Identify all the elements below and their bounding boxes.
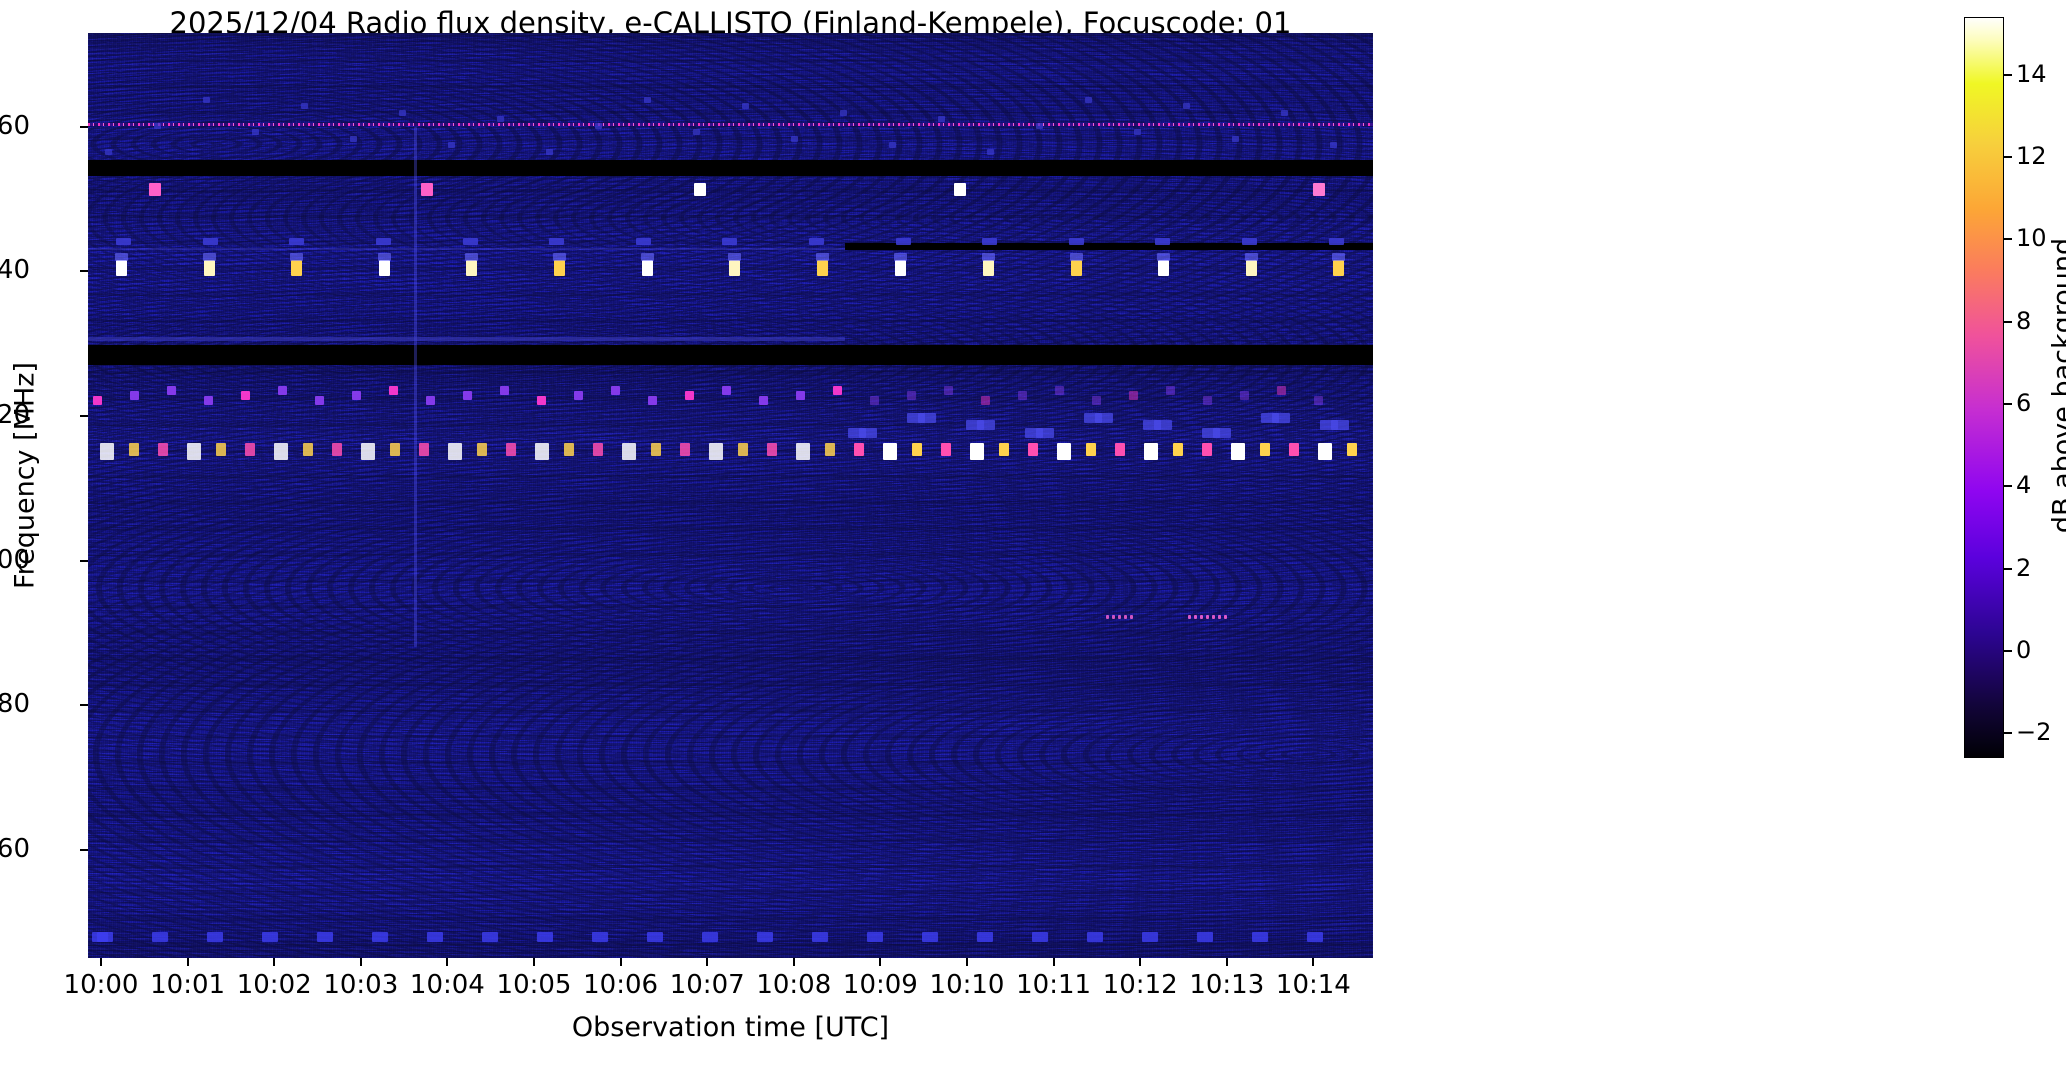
beacon-blob — [378, 253, 391, 261]
beacon-blob — [389, 386, 398, 395]
x-tick-mark — [879, 958, 881, 966]
beacon-blob — [1212, 615, 1215, 619]
beacon-blob — [332, 443, 342, 456]
beacon-blob — [303, 443, 313, 456]
beacon-blob — [896, 238, 911, 245]
colorbar-tick-label: 6 — [2016, 389, 2031, 417]
beacon-blob — [105, 149, 112, 155]
beacon-blob — [154, 123, 161, 129]
beacon-blob — [809, 238, 824, 245]
beacon-blob — [1115, 443, 1125, 456]
x-tick-mark — [966, 958, 968, 966]
beacon-blob — [1118, 615, 1121, 619]
figure-canvas: 2025/12/04 Radio flux density, e-CALLIST… — [0, 0, 2066, 1067]
y-tick-label: 140 — [0, 255, 30, 285]
colorbar-title: dB above background — [2048, 176, 2066, 596]
beacon-blob — [636, 238, 651, 245]
beacon-blob — [729, 260, 740, 276]
beacon-blob — [291, 260, 302, 276]
y-tick-label: 120 — [0, 400, 30, 430]
beacon-blob — [1188, 615, 1191, 619]
beacon-blob — [970, 443, 984, 460]
beacon-blob — [1032, 932, 1048, 942]
beacon-blob — [1333, 260, 1344, 276]
beacon-blob — [651, 443, 661, 456]
beacon-blob — [1213, 428, 1231, 438]
x-tick-mark — [360, 958, 362, 966]
y-tick-label: 160 — [0, 111, 30, 141]
beacon-blob — [889, 142, 896, 148]
beacon-blob — [1036, 123, 1043, 129]
beacon-blob — [1129, 391, 1138, 400]
colorbar-tick-mark — [2004, 321, 2012, 323]
beacon-blob — [278, 386, 287, 395]
beacon-blob — [315, 396, 324, 405]
y-tick-label: 60 — [0, 834, 30, 864]
beacon-blob — [912, 443, 922, 456]
beacon-blob — [1260, 443, 1270, 456]
beacon-blob — [1070, 253, 1083, 261]
beacon-blob — [647, 932, 663, 942]
beacon-blob — [376, 238, 391, 245]
colorbar-tick-mark — [2004, 403, 2012, 405]
beacon-blob — [728, 253, 741, 261]
beacon-blob — [1071, 260, 1082, 276]
beacon-blob — [1173, 443, 1183, 456]
beacon-blob — [622, 443, 636, 460]
beacon-blob — [1272, 413, 1290, 423]
beacon-blob — [941, 443, 951, 456]
beacon-blob — [448, 443, 462, 460]
suppressed-band-114mhz — [88, 345, 1373, 365]
x-tick-mark — [1053, 958, 1055, 966]
beacon-blob — [592, 932, 608, 942]
y-axis-title: Frequency [MHz] — [10, 236, 41, 716]
beacon-blob — [870, 396, 879, 405]
beacon-blob — [274, 443, 288, 460]
beacon-blob — [987, 149, 994, 155]
y-tick-mark — [80, 704, 88, 706]
beacon-blob — [290, 253, 303, 261]
beacon-blob — [1130, 615, 1133, 619]
beacon-blob — [130, 391, 139, 400]
beacon-blob — [702, 932, 718, 942]
beacon-blob — [1313, 183, 1325, 196]
beacon-blob — [1252, 932, 1268, 942]
beacon-blob — [611, 386, 620, 395]
beacon-blob — [1242, 238, 1257, 245]
colorbar-tick-mark — [2004, 485, 2012, 487]
beacon-blob — [1144, 443, 1158, 460]
beacon-blob — [129, 443, 139, 456]
beacon-blob — [1154, 420, 1172, 430]
beacon-blob — [817, 260, 828, 276]
beacon-blob — [463, 391, 472, 400]
beacon-blob — [1289, 443, 1299, 456]
beacon-blob — [938, 116, 945, 122]
y-tick-mark — [80, 415, 88, 417]
beacon-blob — [88, 337, 845, 341]
beacon-blob — [722, 386, 731, 395]
beacon-blob — [1245, 253, 1258, 261]
beacon-blob — [1095, 413, 1113, 423]
y-tick-label: 80 — [0, 689, 30, 719]
colorbar-tick-mark — [2004, 74, 2012, 76]
beacon-blob — [419, 443, 429, 456]
beacon-blob — [535, 443, 549, 460]
beacon-blob — [977, 932, 993, 942]
beacon-blob — [554, 260, 565, 276]
colorbar-tick-mark — [2004, 238, 2012, 240]
beacon-blob — [981, 396, 990, 405]
beacon-blob — [262, 932, 278, 942]
x-tick-mark — [620, 958, 622, 966]
beacon-blob — [816, 253, 829, 261]
beacon-blob — [252, 129, 259, 135]
beacon-blob — [1200, 615, 1203, 619]
beacon-blob — [1142, 932, 1158, 942]
beacon-blob — [1332, 253, 1345, 261]
beacon-blob — [983, 260, 994, 276]
x-tick-mark — [1312, 958, 1314, 966]
beacon-blob — [352, 391, 361, 400]
beacon-blob — [1232, 136, 1239, 142]
beacon-blob — [92, 932, 108, 942]
x-axis-title: Observation time [UTC] — [88, 1012, 1373, 1043]
beacon-blob — [203, 97, 210, 103]
beacon-blob — [482, 932, 498, 942]
colorbar-tick-label: 10 — [2016, 224, 2047, 252]
beacon-blob — [1231, 443, 1245, 460]
colorbar-tick-label: 4 — [2016, 471, 2031, 499]
beacon-blob — [693, 129, 700, 135]
colorbar-tick-mark — [2004, 650, 2012, 652]
beacon-blob — [680, 443, 690, 456]
y-tick-mark — [80, 270, 88, 272]
beacon-blob — [1206, 615, 1209, 619]
beacon-blob — [867, 932, 883, 942]
beacon-blob — [289, 238, 304, 245]
beacon-blob — [116, 238, 131, 245]
beacon-blob — [564, 443, 574, 456]
beacon-blob — [1134, 129, 1141, 135]
beacon-blob — [922, 932, 938, 942]
beacon-blob — [595, 123, 602, 129]
beacon-blob — [685, 391, 694, 400]
beacon-blob — [977, 420, 995, 430]
beacon-blob — [149, 183, 161, 196]
beacon-blob — [574, 391, 583, 400]
colorbar-tick-mark — [2004, 156, 2012, 158]
beacon-blob — [859, 428, 877, 438]
beacon-blob — [1183, 103, 1190, 109]
beacon-blob — [1124, 615, 1127, 619]
beacon-blob — [722, 238, 737, 245]
beacon-blob — [796, 391, 805, 400]
beacon-blob — [1318, 443, 1332, 460]
beacon-blob — [116, 260, 127, 276]
beacon-blob — [372, 932, 388, 942]
beacon-blob — [549, 238, 564, 245]
beacon-blob — [158, 443, 168, 456]
x-tick-mark — [1226, 958, 1228, 966]
beacon-blob — [1330, 142, 1337, 148]
beacon-blob — [709, 443, 723, 460]
beacon-blob — [1157, 253, 1170, 261]
beacon-blob — [546, 149, 553, 155]
x-tick-label: 10:14 — [1253, 970, 1373, 1000]
beacon-blob — [642, 260, 653, 276]
beacon-blob — [1197, 932, 1213, 942]
beacon-blob — [1055, 386, 1064, 395]
y-tick-mark — [80, 126, 88, 128]
beacon-blob — [427, 932, 443, 942]
beacon-blob — [791, 136, 798, 142]
beacon-blob — [1092, 396, 1101, 405]
beacon-blob — [301, 103, 308, 109]
colorbar-tick-label: −2 — [2016, 718, 2051, 746]
beacon-blob — [796, 443, 810, 460]
beacon-blob — [245, 443, 255, 456]
beacon-blob — [1155, 238, 1170, 245]
beacon-blob — [317, 932, 333, 942]
beacon-blob — [767, 443, 777, 456]
beacon-blob — [477, 443, 487, 456]
beacon-blob — [825, 443, 835, 456]
y-tick-label: 100 — [0, 545, 30, 575]
suppressed-band-140mhz — [88, 160, 1373, 176]
beacon-blob — [1218, 615, 1221, 619]
beacon-blob — [918, 413, 936, 423]
beacon-blob — [1194, 615, 1197, 619]
suppressed-band-131mhz-right — [845, 243, 1373, 250]
beacon-blob — [1018, 391, 1027, 400]
spectrogram-plot-area — [88, 33, 1373, 958]
y-tick-mark — [80, 849, 88, 851]
beacon-blob — [840, 110, 847, 116]
colorbar-tick-mark — [2004, 732, 2012, 734]
beacon-blob — [1307, 932, 1323, 942]
beacon-blob — [203, 253, 216, 261]
x-tick-mark — [273, 958, 275, 966]
beacon-blob — [644, 97, 651, 103]
beacon-blob — [93, 396, 102, 405]
beacon-blob — [894, 253, 907, 261]
beacon-blob — [1329, 238, 1344, 245]
colorbar-tick-label: 0 — [2016, 636, 2031, 664]
beacon-blob — [944, 386, 953, 395]
beacon-blob — [1331, 420, 1349, 430]
beacon-blob — [1240, 391, 1249, 400]
beacon-blob — [833, 386, 842, 395]
beacon-blob — [1112, 615, 1115, 619]
y-tick-mark — [80, 560, 88, 562]
beacon-blob — [115, 253, 128, 261]
beacon-blob — [390, 443, 400, 456]
colorbar-tick-label: 8 — [2016, 307, 2031, 335]
beacon-blob — [1166, 386, 1175, 395]
colorbar-tick-mark — [2004, 568, 2012, 570]
beacon-blob — [152, 932, 168, 942]
beacon-blob — [1203, 396, 1212, 405]
beacon-blob — [506, 443, 516, 456]
x-tick-mark — [100, 958, 102, 966]
colorbar-gradient — [1964, 17, 2004, 758]
beacon-blob — [1085, 97, 1092, 103]
x-tick-mark — [706, 958, 708, 966]
beacon-blob — [399, 110, 406, 116]
beacon-blob — [187, 443, 201, 460]
colorbar-tick-label: 2 — [2016, 554, 2031, 582]
beacon-blob — [1202, 443, 1212, 456]
emission-line-151mhz — [88, 123, 1373, 126]
beacon-blob — [895, 260, 906, 276]
x-tick-mark — [793, 958, 795, 966]
beacon-blob — [641, 253, 654, 261]
beacon-blob — [448, 142, 455, 148]
beacon-blob — [421, 183, 433, 196]
beacon-blob — [203, 238, 218, 245]
x-tick-mark — [187, 958, 189, 966]
beacon-blob — [350, 136, 357, 142]
beacon-blob — [537, 396, 546, 405]
beacon-blob — [100, 443, 114, 460]
beacon-blob — [1106, 615, 1109, 619]
beacon-blob — [1314, 396, 1323, 405]
beacon-blob — [379, 260, 390, 276]
beacon-blob — [982, 238, 997, 245]
beacon-blob — [204, 260, 215, 276]
beacon-blob — [207, 932, 223, 942]
beacon-blob — [500, 386, 509, 395]
beacon-blob — [1224, 615, 1227, 619]
beacon-blob — [463, 238, 478, 245]
beacon-blob — [216, 443, 226, 456]
beacon-blob — [999, 443, 1009, 456]
beacon-blob — [1277, 386, 1286, 395]
beacon-blob — [854, 443, 864, 456]
x-tick-mark — [533, 958, 535, 966]
x-tick-mark — [446, 958, 448, 966]
beacon-blob — [593, 443, 603, 456]
beacon-blob — [738, 443, 748, 456]
beacon-blob — [742, 103, 749, 109]
beacon-blob — [1281, 110, 1288, 116]
beacon-blob — [812, 932, 828, 942]
beacon-blob — [1246, 260, 1257, 276]
colorbar-tick-label: 14 — [2016, 60, 2047, 88]
beacon-blob — [1069, 238, 1084, 245]
beacon-blob — [361, 443, 375, 460]
beacon-blob — [1028, 443, 1038, 456]
x-tick-mark — [1139, 958, 1141, 966]
beacon-blob — [648, 396, 657, 405]
beacon-blob — [1057, 443, 1071, 460]
beacon-blob — [982, 253, 995, 261]
beacon-blob — [204, 396, 213, 405]
beacon-blob — [466, 260, 477, 276]
beacon-blob — [694, 183, 706, 196]
beacon-blob — [1347, 443, 1357, 456]
beacon-blob — [553, 253, 566, 261]
beacon-blob — [1087, 932, 1103, 942]
beacon-blob — [465, 253, 478, 261]
beacon-blob — [1158, 260, 1169, 276]
beacon-blob — [241, 391, 250, 400]
beacon-blob — [1036, 428, 1054, 438]
colorbar-tick-label: 12 — [2016, 142, 2047, 170]
beacon-blob — [167, 386, 176, 395]
beacon-blob — [757, 932, 773, 942]
beacon-blob — [759, 396, 768, 405]
beacon-blob — [537, 932, 553, 942]
beacon-blob — [1086, 443, 1096, 456]
beacon-blob — [426, 396, 435, 405]
beacon-blob — [497, 116, 504, 122]
beacon-blob — [907, 391, 916, 400]
beacon-blob — [883, 443, 897, 460]
beacon-blob — [954, 183, 966, 196]
